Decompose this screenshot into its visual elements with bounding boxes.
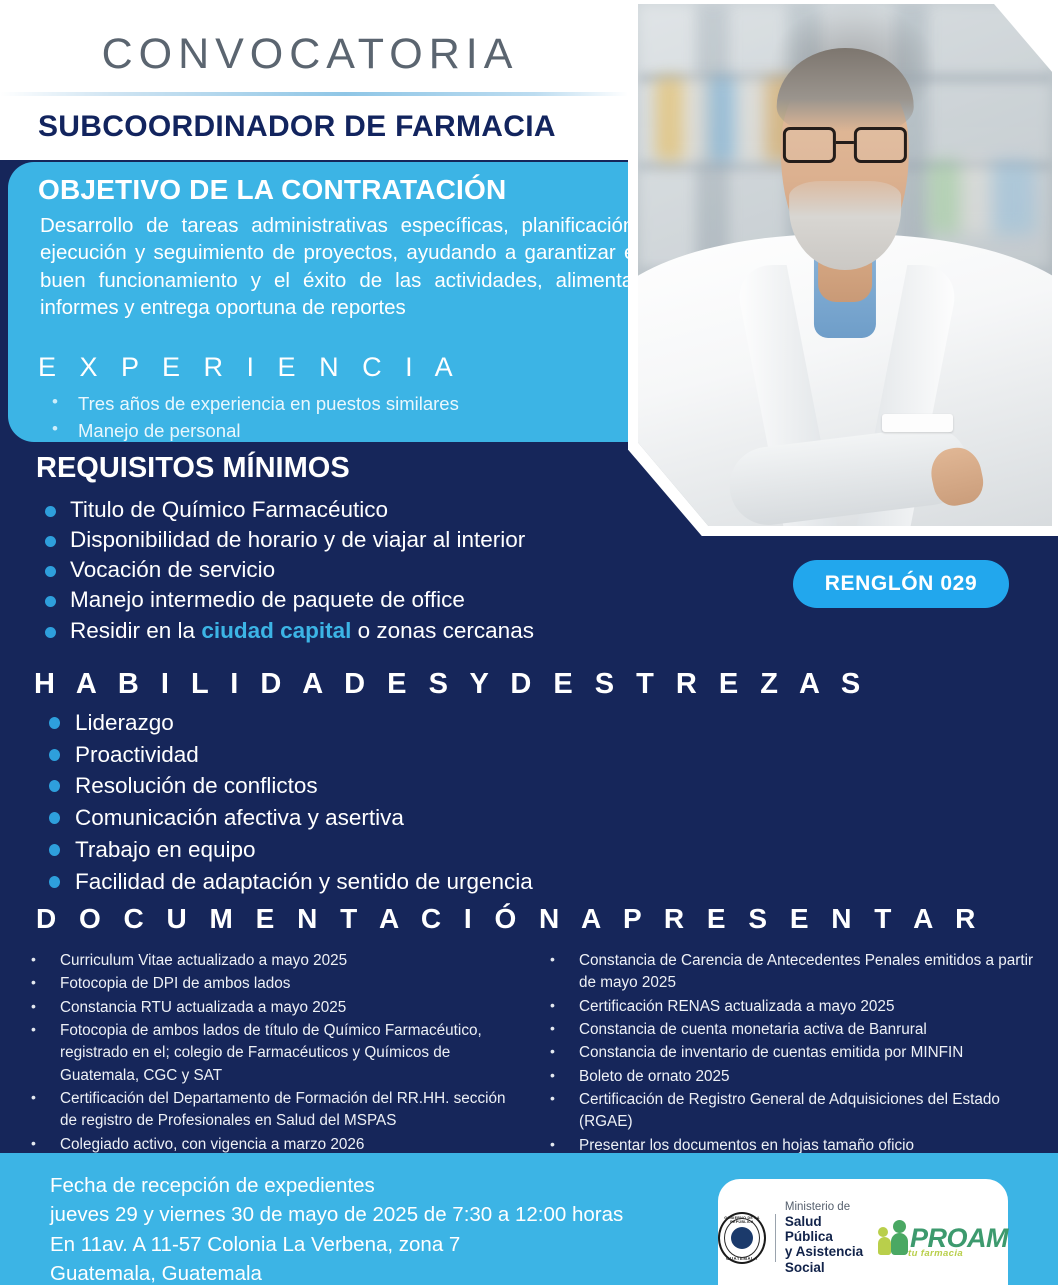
- person-body-yellow: [878, 1237, 891, 1255]
- medicine-boxes-secondary: [928, 161, 1036, 234]
- list-item: Constancia RTU actualizada a mayo 2025: [22, 997, 523, 1019]
- documentation-heading: D O C U M E N T A C I Ó N A P R E S E N …: [36, 903, 983, 935]
- skills-heading: H A B I L I D A D E S Y D E S T R E Z A …: [34, 668, 867, 701]
- eyeglass-lens-right: [854, 127, 907, 164]
- list-item: Manejo de personal: [44, 417, 634, 444]
- reception-line: jueves 29 y viernes 30 de mayo de 2025 d…: [50, 1200, 623, 1229]
- list-item: Facilidad de adaptación y sentido de urg…: [44, 866, 664, 898]
- job-title: SUBCOORDINADOR DE FARMACIA: [38, 110, 556, 144]
- requirement-text-after: o zonas cercanas: [351, 618, 534, 643]
- list-item: Trabajo en equipo: [44, 834, 664, 866]
- ministry-line-1: Ministerio de: [785, 1201, 866, 1214]
- pharmacist-photo: [638, 4, 1052, 526]
- list-item: Fotocopia de DPI de ambos lados: [22, 973, 523, 995]
- list-item: Constancia de inventario de cuentas emit…: [541, 1042, 1042, 1064]
- list-item: Tres años de experiencia en puestos simi…: [44, 390, 634, 417]
- list-item: Constancia de Carencia de Antecedentes P…: [541, 950, 1042, 995]
- eyeglass-bridge: [836, 141, 853, 145]
- documentation-list-left: Curriculum Vitae actualizado a mayo 2025…: [22, 950, 523, 1158]
- list-item: Resolución de conflictos: [44, 770, 664, 802]
- requirement-highlight: ciudad capital: [201, 618, 351, 643]
- seal-top-text: GOBIERNO DE LA REPÚBLICA: [720, 1216, 764, 1224]
- list-item: Titulo de Químico Farmacéutico: [40, 495, 640, 525]
- pharmacist-photo-frame: [628, 0, 1058, 536]
- requirements-heading: REQUISITOS MÍNIMOS: [36, 452, 350, 485]
- list-item: Liderazgo: [44, 707, 664, 739]
- list-item: Fotocopia de ambos lados de título de Qu…: [22, 1020, 523, 1087]
- requirement-text-before: Residir en la: [70, 618, 201, 643]
- header-divider: [0, 92, 628, 96]
- skills-list: Liderazgo Proactividad Resolución de con…: [44, 707, 664, 897]
- experience-heading: E X P E R I E N C I A: [38, 352, 461, 383]
- list-item: Constancia de cuenta monetaria activa de…: [541, 1019, 1042, 1041]
- status-badge: RENGLÓN 029: [793, 560, 1009, 608]
- documentation-list-right: Constancia de Carencia de Antecedentes P…: [541, 950, 1042, 1158]
- person-body-green: [891, 1233, 908, 1255]
- experience-list: Tres años de experiencia en puestos simi…: [44, 390, 634, 445]
- eyeglasses-icon: [783, 127, 907, 164]
- list-item: Boleto de ornato 2025: [541, 1066, 1042, 1088]
- list-item: Proactividad: [44, 739, 664, 771]
- list-item: Curriculum Vitae actualizado a mayo 2025: [22, 950, 523, 972]
- proam-logo: PROAM tu farmacia: [878, 1220, 1008, 1256]
- list-item: Vocación de servicio: [40, 555, 640, 585]
- list-item: Comunicación afectiva y asertiva: [44, 802, 664, 834]
- ministry-logo: GOBIERNO DE LA REPÚBLICA GUATEMALA Minis…: [718, 1201, 866, 1274]
- requirements-list: Titulo de Químico Farmacéutico Disponibi…: [40, 495, 640, 646]
- logo-divider: [775, 1214, 776, 1262]
- people-icon: [878, 1220, 908, 1256]
- ministry-line-2: Salud Pública: [785, 1214, 866, 1244]
- documentation-columns: Curriculum Vitae actualizado a mayo 2025…: [22, 950, 1042, 1158]
- guatemala-seal-icon: GOBIERNO DE LA REPÚBLICA GUATEMALA: [718, 1212, 766, 1264]
- list-item: Certificación del Departamento de Formac…: [22, 1088, 523, 1133]
- coat-pocket-badge: [882, 414, 952, 432]
- person-head-yellow: [878, 1227, 888, 1237]
- person-head-green: [893, 1220, 906, 1233]
- list-item: Disponibilidad de horario y de viajar al…: [40, 525, 640, 555]
- proam-tagline: tu farmacia: [908, 1248, 963, 1259]
- list-item-highlighted: Residir en la ciudad capital o zonas cer…: [40, 616, 640, 646]
- reception-line: Guatemala, Guatemala: [50, 1259, 623, 1285]
- job-posting-poster: CONVOCATORIA SUBCOORDINADOR DE FARMACIA …: [0, 0, 1058, 1285]
- objective-body: Desarrollo de tareas administrativas esp…: [40, 212, 640, 322]
- reception-line: Fecha de recepción de expedientes: [50, 1171, 623, 1200]
- list-item: Certificación RENAS actualizada a mayo 2…: [541, 996, 1042, 1018]
- ministry-line-3: y Asistencia: [785, 1244, 866, 1259]
- status-badge-label: RENGLÓN 029: [825, 572, 977, 596]
- logo-card: GOBIERNO DE LA REPÚBLICA GUATEMALA Minis…: [718, 1179, 1008, 1285]
- page-title: CONVOCATORIA: [0, 33, 620, 76]
- footer-band: Fecha de recepción de expedientes jueves…: [0, 1153, 1058, 1285]
- ministry-line-4: Social: [785, 1260, 866, 1275]
- list-item: Manejo intermedio de paquete de office: [40, 585, 640, 615]
- seal-bottom-text: GUATEMALA: [720, 1256, 764, 1261]
- seal-emblem: [731, 1227, 753, 1249]
- objective-heading: OBJETIVO DE LA CONTRATACIÓN: [38, 174, 506, 206]
- list-item: Certificación de Registro General de Adq…: [541, 1089, 1042, 1134]
- reception-info: Fecha de recepción de expedientes jueves…: [50, 1171, 623, 1285]
- objective-panel: OBJETIVO DE LA CONTRATACIÓN Desarrollo d…: [8, 162, 653, 442]
- ministry-name: Ministerio de Salud Pública y Asistencia…: [785, 1201, 866, 1274]
- reception-line: En 11av. A 11-57 Colonia La Verbena, zon…: [50, 1230, 623, 1259]
- eyeglass-lens-left: [783, 127, 836, 164]
